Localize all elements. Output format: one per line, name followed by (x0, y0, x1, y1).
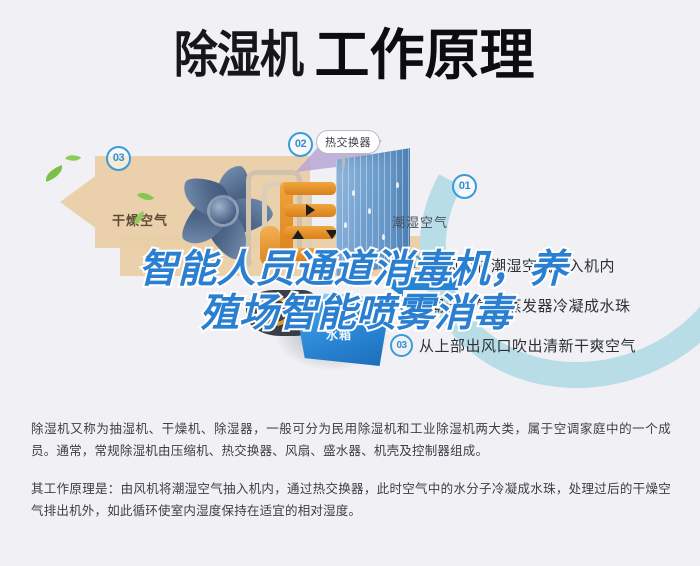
body-paragraph-2: 其工作原理是：由风机将潮湿空气抽入机内，通过热交换器，此时空气中的水分子冷凝成水… (31, 478, 671, 522)
step-text-03: 从上部出风口吹出清新干爽空气 (419, 338, 636, 355)
dehumidifier-diagram: 干燥空气 (0, 118, 700, 398)
water-droplet-icon (368, 208, 371, 214)
leaf-icon (43, 165, 65, 182)
copper-coil (284, 182, 336, 195)
compressor-coil-assembly (258, 174, 342, 270)
step-text-02: 潮湿空气经蒸发器冷凝成水珠 (429, 298, 631, 315)
step-badge-01: 01 (400, 254, 423, 277)
water-droplet-icon (352, 190, 355, 196)
water-tank-label: 水箱 (326, 326, 352, 343)
infographic-page: 除湿机工作原理 干燥空气 (0, 0, 700, 566)
water-droplet-icon (358, 246, 361, 252)
flow-arrow-up-icon (292, 230, 304, 239)
page-title-part-b: 工作原理 (314, 26, 534, 84)
callout-pointer-line (342, 156, 344, 172)
badge-step-01: 01 (452, 174, 477, 199)
fan-hub (210, 198, 236, 224)
step-badge-03: 03 (390, 334, 413, 357)
diagram-step-03: 03从上部出风口吹出清新干爽空气 (390, 334, 636, 357)
diagram-step-01: 01由风机将潮湿空气抽入机内 (400, 254, 615, 277)
water-droplet-icon (344, 222, 347, 228)
body-paragraph-1: 除湿机又称为抽湿机、干燥机、除湿器，一般可分为民用除湿机和工业除湿机两大类，属于… (31, 418, 671, 462)
compressor-cylinder (260, 226, 280, 266)
badge-step-02: 02 (288, 132, 313, 157)
step-text-01: 由风机将潮湿空气抽入机内 (429, 258, 615, 275)
diagram-step-02: 02潮湿空气经蒸发器冷凝成水珠 (400, 294, 631, 317)
leaf-icon (65, 151, 81, 164)
page-title: 除湿机工作原理 (0, 26, 700, 84)
badge-step-03: 03 (106, 146, 131, 171)
step-badge-02: 02 (400, 294, 423, 317)
water-droplet-icon (382, 234, 385, 240)
copper-coil (284, 248, 336, 261)
body-copy: 除湿机又称为抽湿机、干燥机、除湿器，一般可分为民用除湿机和工业除湿机两大类，属于… (31, 418, 671, 522)
water-droplet-icon (396, 182, 399, 188)
water-tank: 水箱 (286, 300, 390, 366)
page-title-part-a: 除湿机 (174, 26, 303, 84)
humid-air-label: 潮湿空气 (392, 212, 448, 231)
heat-exchanger-callout: 热交换器 (316, 130, 380, 154)
air-inlet-arrow-icon (402, 276, 458, 290)
flow-arrow-right-icon (306, 204, 315, 216)
